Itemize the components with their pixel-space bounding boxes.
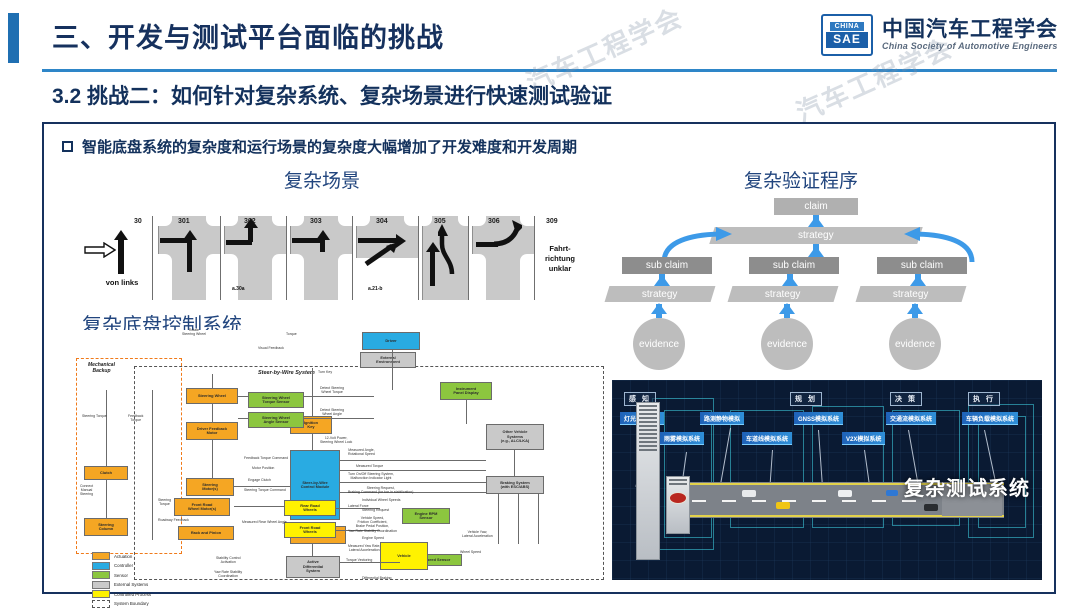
legend-item: Controller (92, 562, 151, 570)
legend-label: System Boundary (114, 601, 149, 606)
chassis-signal: Vehicle Speed, Friction Coefficient, Bra… (348, 516, 397, 533)
logo-badge-sae: SAE (826, 32, 868, 47)
chassis-signal: Measured Angle, Rotational Speed (348, 448, 375, 456)
content-frame: 智能底盘系统的复杂度和运行场景的复杂度大幅增加了开发难度和开发周期 复杂场景 复… (42, 122, 1056, 594)
chassis-node-sw-angle-sensor: Steering Wheel Angle Sensor (248, 412, 304, 428)
chassis-node-external-environment: External Environment (360, 352, 416, 368)
chassis-signal: Visual Feedback (258, 346, 284, 350)
legend-label: External Systems (114, 582, 148, 587)
legend-label: Actuation (114, 554, 132, 559)
bullet-square-icon (62, 141, 73, 152)
legend-swatch-system-boundary (92, 600, 110, 608)
scenario-number: 304 (376, 218, 388, 225)
chassis-signal: Steering Torque (158, 498, 171, 506)
header-divider (42, 69, 1057, 72)
test-system-title: 复杂测试系统 (904, 472, 1030, 501)
test-vehicle (886, 490, 898, 496)
gsn-claim: claim (774, 198, 858, 215)
legend-swatch-actuation (92, 552, 110, 560)
test-bench (666, 476, 690, 534)
sae-badge-icon: CHINA SAE (821, 14, 873, 56)
chassis-signal: Connect Manual Steering (80, 484, 93, 497)
chassis-node-front-road-wheel-motors: Front Road Wheel Motor(s) (174, 498, 230, 516)
chassis-signal: Measured Rear Wheel Angle (242, 520, 287, 524)
scenario-sub-label: a.30a (232, 286, 245, 293)
chassis-signal: Feedback Torque (128, 414, 143, 422)
page-title: 三、开发与测试平台面临的挑战 (52, 16, 444, 55)
chassis-signal: Stability Control Activation (216, 556, 241, 564)
sim-tag-lane-line: 车道线模拟系统 (742, 432, 792, 445)
chassis-signal: Detect Steering Wheel Angle (320, 408, 344, 416)
chassis-node-engine-rpm-sensor: Engine RPM Sensor (402, 508, 450, 524)
gsn-evidence: evidence (761, 318, 813, 370)
mechanical-backup-label: Mechanical Backup (88, 362, 115, 374)
legend-swatch-external (92, 581, 110, 589)
chassis-signal: Differential Braking (362, 576, 392, 580)
gsn-top-strategy: strategy (709, 227, 923, 244)
organization-logo: CHINA SAE 中国汽车工程学会 China Society of Auto… (821, 14, 1058, 56)
hollow-arrow-icon (84, 242, 116, 263)
scenario-number: 30 (134, 218, 142, 225)
chassis-node-instrument-panel-display: Instrument Panel Display (440, 382, 492, 400)
chassis-node-driver: Driver (362, 332, 420, 350)
chassis-node-sw-torque-sensor: Steering Wheel Torque Sensor (248, 392, 304, 408)
gsn-strategy-label: strategy (893, 289, 929, 300)
scenario-arrow (118, 240, 124, 274)
scenario-left-label: von links (94, 278, 150, 288)
category-decision: 决 策 (890, 392, 922, 406)
chassis-node-rack-and-pinion: Rack and Pinion (178, 526, 234, 540)
chassis-legend: Actuation Controller Sensor External Sys… (92, 552, 151, 610)
gsn-strategy-label: strategy (642, 289, 678, 300)
chassis-node-clutch: Clutch (84, 466, 128, 480)
gsn-evidence: evidence (633, 318, 685, 370)
scenario-diagonal-arrow (364, 242, 398, 264)
category-execution: 执 行 (968, 392, 1000, 406)
chassis-node-steering-column: Steering Column (84, 518, 128, 536)
sim-tag-static-object: 路测静物模拟 (700, 412, 744, 425)
caption-complex-scenario: 复杂场景 (284, 166, 360, 193)
scenario-number: 309 (546, 218, 558, 225)
server-rack (636, 402, 660, 560)
legend-label: Controlled Process (114, 592, 151, 597)
chassis-signal: Steering Torque Command (244, 488, 286, 492)
chassis-node-rear-road-wheels: Rear Road Wheels (284, 500, 336, 516)
scenario-arrow-head (114, 230, 128, 240)
scenario-number: 301 (178, 218, 190, 225)
sim-tag-vehicle-load: 车辆负载模拟系统 (962, 412, 1018, 425)
chassis-node-driver-feedback-motor: Driver Feedback Motor (186, 422, 238, 440)
chassis-signal: Measured Yaw Rate, Lateral Acceleration (348, 544, 380, 552)
chassis-signal: Rotate Steering Wheel (182, 328, 206, 336)
legend-item: System Boundary (92, 600, 151, 608)
test-vehicle (776, 502, 790, 509)
legend-swatch-controller (92, 562, 110, 570)
gsn-strategy: strategy (605, 286, 716, 302)
scenario-s-curve (438, 224, 464, 276)
sim-tag-rain-fog: 雨雾模拟系统 (660, 432, 704, 445)
legend-item: Actuation (92, 552, 151, 560)
sim-tag-traffic-flow: 交通流模拟系统 (886, 412, 936, 425)
chassis-signal: Feedback Torque Command (244, 456, 288, 460)
chassis-node-braking-system: Braking System (with ESC/ABS) (486, 476, 544, 494)
chassis-signal: Wheel Speed (460, 550, 481, 554)
sim-tag-v2x: V2X模拟系统 (842, 432, 885, 445)
scenario-right-label: Fahrt- richtung unklar (538, 244, 582, 274)
chassis-signal: Detect Steering Wheel Torque (320, 386, 344, 394)
legend-swatch-controlled-process (92, 590, 110, 598)
chassis-signal: Turn Key (318, 370, 332, 374)
slide: 三、开发与测试平台面临的挑战 CHINA SAE 中国汽车工程学会 China … (0, 0, 1080, 608)
test-vehicle (838, 490, 852, 497)
test-vehicle (924, 504, 938, 511)
chassis-signal: Roadway Feedback (158, 518, 189, 522)
chassis-signal: Steering Request (362, 508, 389, 512)
legend-label: Sensor (114, 573, 128, 578)
chassis-signal: Motor Position (252, 466, 274, 470)
legend-item: Sensor (92, 571, 151, 579)
chassis-signal: Engage Clutch (248, 478, 271, 482)
chassis-node-steering-motors: Steering Motor(s) (186, 478, 234, 496)
scenario-curve-arrow (492, 220, 522, 250)
chassis-node-steering-wheel: Steering Wheel (186, 388, 238, 404)
chassis-signal: Turn On/Off Steering System, Malfunction… (348, 472, 394, 480)
section-subtitle: 3.2 挑战二：如何针对复杂系统、复杂场景进行快速测试验证 (52, 80, 612, 110)
chassis-signal: Vehicle Yaw, Lateral Acceleration (462, 530, 493, 538)
chassis-signal: Lateral Force (348, 504, 369, 508)
chassis-signal: Engine Speed (362, 536, 384, 540)
legend-item: External Systems (92, 581, 151, 589)
legend-swatch-sensor (92, 571, 110, 579)
logo-text-en: China Society of Automotive Engineers (882, 41, 1058, 51)
gsn-top-strategy-label: strategy (798, 230, 834, 241)
bullet-text: 智能底盘系统的复杂度和运行场景的复杂度大幅增加了开发难度和开发周期 (82, 136, 577, 157)
gsn-strategy: strategy (728, 286, 839, 302)
gsn-sub-claim: sub claim (877, 257, 967, 274)
header-accent-bar (8, 13, 19, 63)
steer-by-wire-system-label: Steer-by-Wire System (258, 370, 315, 377)
logo-badge-china: CHINA (830, 22, 865, 31)
gsn-sub-claim: sub claim (749, 257, 839, 274)
bullet-point: 智能底盘系统的复杂度和运行场景的复杂度大幅增加了开发难度和开发周期 (62, 136, 577, 157)
chassis-signal: Yaw Rate Stability Coordination (214, 570, 242, 578)
scenario-sub-label: a.21-b (368, 286, 382, 293)
legend-label: Controller (114, 563, 133, 568)
gsn-sub-claim: sub claim (622, 257, 712, 274)
chassis-node-other-vehicle-systems: Other Vehicle Systems (e.g., ALC/LKA) (486, 424, 544, 450)
gsn-strategy-label: strategy (765, 289, 801, 300)
scenario-number: 303 (310, 218, 322, 225)
chassis-signal: Torque Vectoring (346, 558, 372, 562)
assurance-case-diagram: claim strategy sub claim sub claim sub c… (612, 194, 1042, 374)
chassis-node-active-differential-system: Active Differential System (286, 556, 340, 578)
chassis-signal: Individual Wheel Speeds (362, 498, 401, 502)
steering-rig-icon (669, 492, 687, 504)
sim-tag-gnss: GNSS模拟系统 (794, 412, 843, 425)
chassis-signal: 12-Volt Power, Steering Wheel Lock (320, 436, 352, 444)
test-vehicle (742, 490, 756, 497)
chassis-signal: Measured Torque (356, 464, 383, 468)
chassis-control-diagram: Mechanical Backup Steer-by-Wire System D… (62, 330, 622, 585)
scenario-strip-diagram: 30 301 302 303 304 305 306 309 von links… (72, 208, 567, 308)
chassis-node-vehicle: Vehicle (380, 542, 428, 570)
caption-verification-process: 复杂验证程序 (744, 166, 858, 193)
gsn-evidence: evidence (889, 318, 941, 370)
chassis-signal: Torque (286, 332, 297, 336)
chassis-node-front-road-wheels: Front Road Wheels (284, 522, 336, 538)
chassis-signal: Steering Torque (82, 414, 107, 418)
logo-text-cn: 中国汽车工程学会 (882, 19, 1058, 41)
logo-text: 中国汽车工程学会 China Society of Automotive Eng… (882, 19, 1058, 51)
category-planning: 规 划 (790, 392, 822, 406)
legend-item: Controlled Process (92, 590, 151, 598)
test-system-image: 感 知 规 划 决 策 执 行 灯光模拟系统 路测静物模拟 GNSS模拟系统 交… (612, 380, 1042, 580)
gsn-strategy: strategy (856, 286, 967, 302)
chassis-signal: Steering Request, Braking Command (for t… (348, 486, 413, 494)
